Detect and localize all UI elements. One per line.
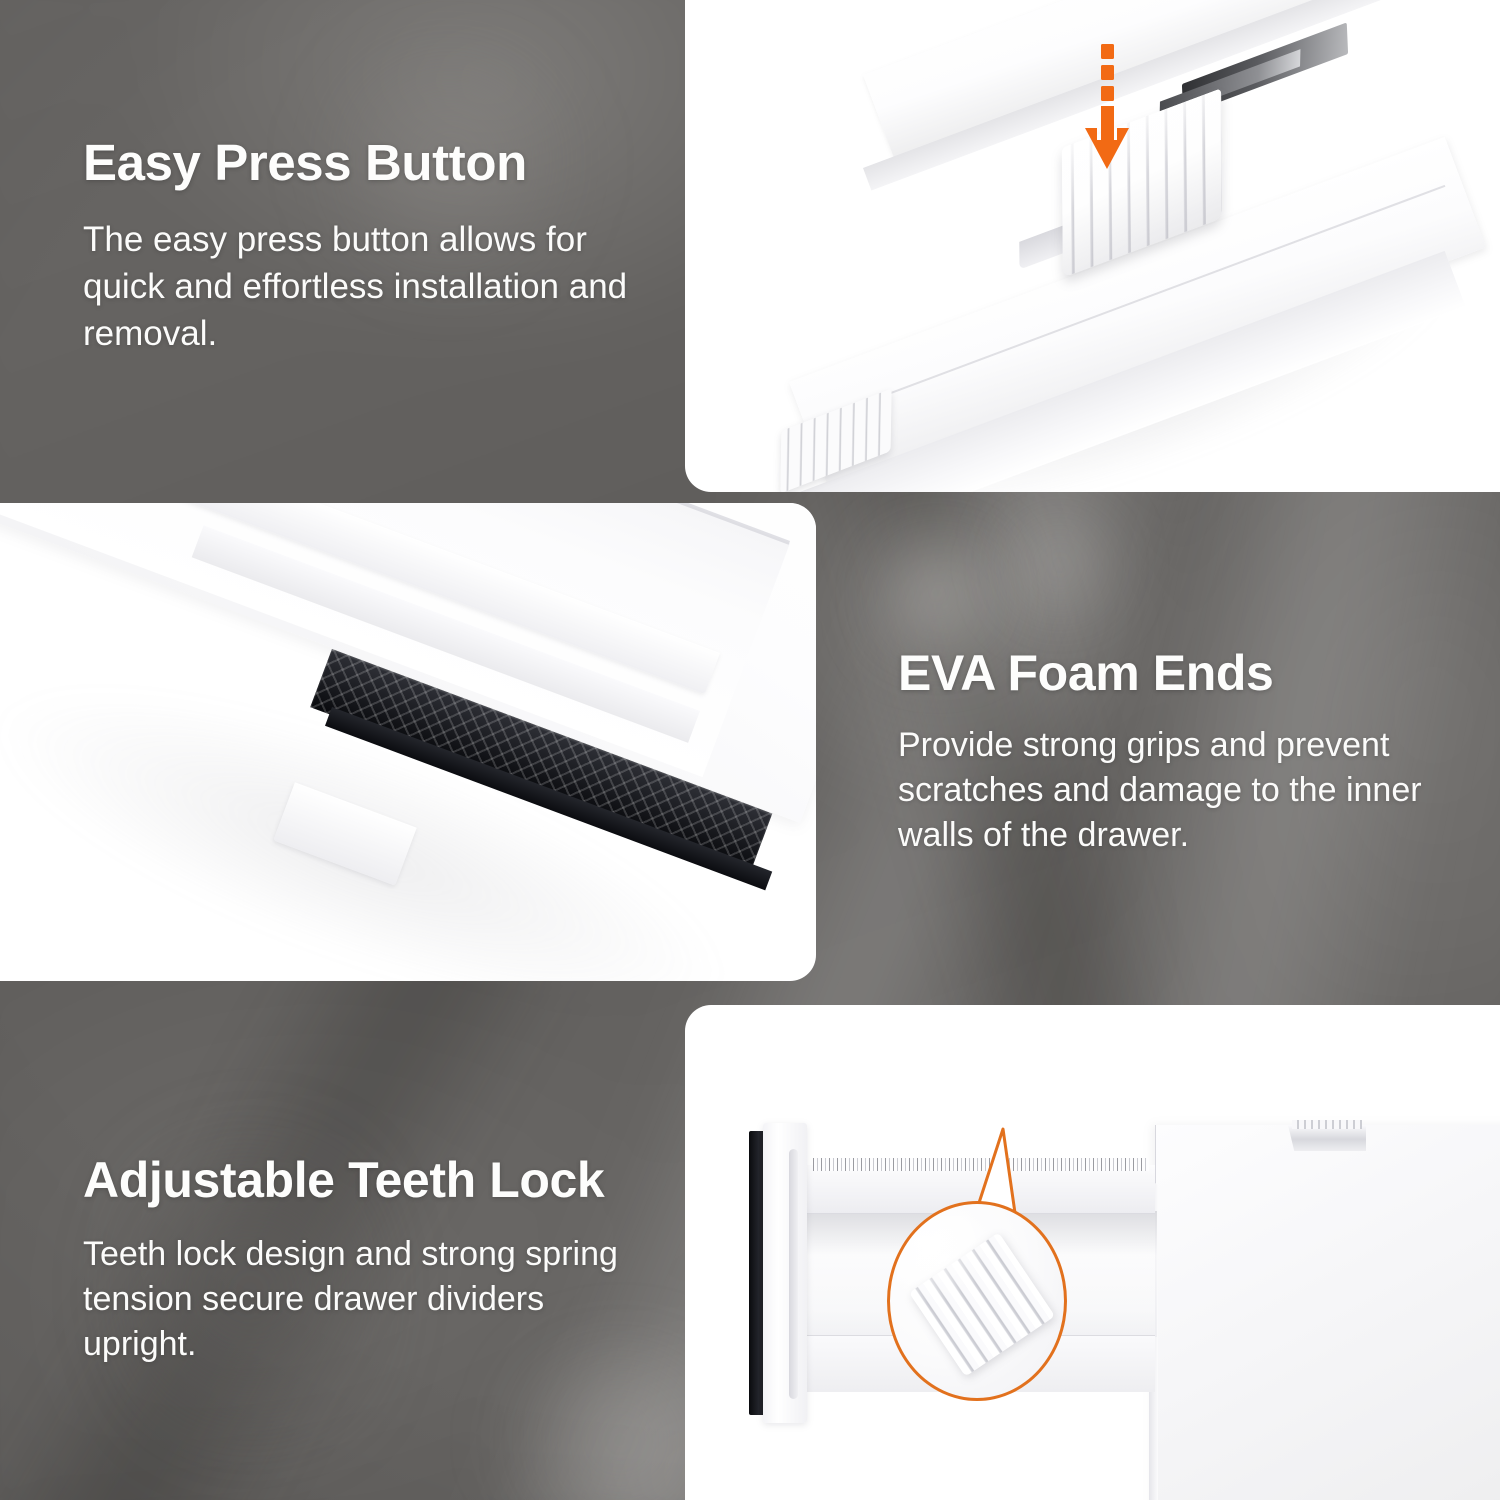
divider-large-panel [1155,1125,1500,1500]
teeth-lock-product-illustration [685,1005,1500,1500]
press-button-photo [685,0,1500,492]
divider-end-cap [763,1123,807,1423]
magnifier-glow [897,1216,994,1305]
magnifier-callout-icon [865,1117,1135,1417]
feature-title: Adjustable Teeth Lock [83,1152,663,1208]
magnifier-lens [887,1201,1067,1401]
feature-text-easy-press-button: Easy Press Button The easy press button … [83,134,663,357]
feature-description: Teeth lock design and strong spring tens… [83,1232,663,1367]
arrow-down-icon [1084,42,1130,170]
infographic-canvas: Easy Press Button The easy press button … [0,0,1500,1500]
feature-text-adjustable-teeth-lock: Adjustable Teeth Lock Teeth lock design … [83,1152,663,1367]
eva-foam-photo [0,503,816,981]
divider-end-cap-groove [789,1149,798,1399]
teeth-lock-photo [685,1005,1500,1500]
feature-text-eva-foam-ends: EVA Foam Ends Provide strong grips and p… [898,645,1446,858]
eva-foam-product-illustration [0,503,816,981]
feature-description: The easy press button allows for quick a… [83,216,663,357]
feature-description: Provide strong grips and prevent scratch… [898,723,1446,858]
divider-panel-tab-ribs [1292,1120,1362,1129]
feature-title: EVA Foam Ends [898,645,1446,701]
feature-title: Easy Press Button [83,134,663,192]
